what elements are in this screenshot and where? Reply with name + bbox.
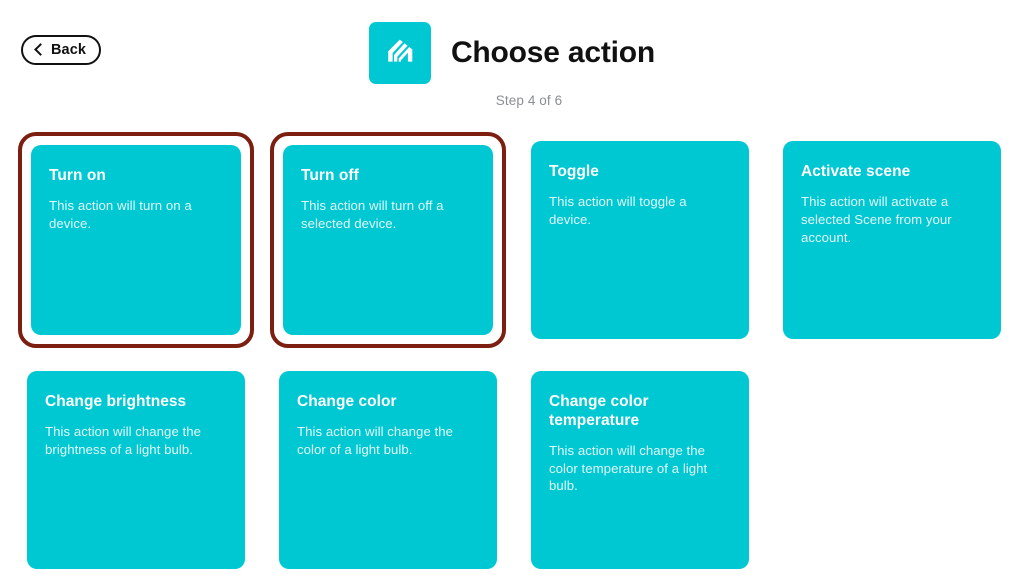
action-card-description: This action will change the color temper… xyxy=(549,442,731,495)
action-card[interactable]: ToggleThis action will toggle a device. xyxy=(531,141,749,339)
action-card-description: This action will activate a selected Sce… xyxy=(801,193,983,246)
card-slot: Change colorThis action will change the … xyxy=(270,362,506,578)
page-header: Back Choose action Step 4 of 6 xyxy=(0,0,1024,130)
card-slot: Activate sceneThis action will activate … xyxy=(774,132,1010,348)
card-slot: ToggleThis action will toggle a device. xyxy=(522,132,758,348)
action-card-title: Turn off xyxy=(301,167,475,186)
page-title: Choose action xyxy=(451,36,655,70)
action-card[interactable]: Change colorThis action will change the … xyxy=(279,371,497,569)
action-card-description: This action will change the color of a l… xyxy=(297,423,479,459)
action-card-title: Change brightness xyxy=(45,393,227,412)
card-slot: Change brightnessThis action will change… xyxy=(18,362,254,578)
card-slot: Change color temperatureThis action will… xyxy=(522,362,758,578)
action-card-grid: Turn onThis action will turn on a device… xyxy=(0,132,1024,578)
action-card-title: Change color temperature xyxy=(549,393,731,431)
step-indicator: Step 4 of 6 xyxy=(496,93,562,108)
action-card-title: Turn on xyxy=(49,167,223,186)
card-slot-highlighted: Turn offThis action will turn off a sele… xyxy=(270,132,506,348)
action-card[interactable]: Change color temperatureThis action will… xyxy=(531,371,749,569)
homey-house-logo-icon xyxy=(369,22,431,84)
action-card-description: This action will turn on a device. xyxy=(49,197,223,233)
title-block: Choose action Step 4 of 6 xyxy=(0,22,1024,108)
action-card-description: This action will toggle a device. xyxy=(549,193,731,229)
action-card-description: This action will change the brightness o… xyxy=(45,423,227,459)
action-card-title: Activate scene xyxy=(801,163,983,182)
card-slot-highlighted: Turn onThis action will turn on a device… xyxy=(18,132,254,348)
action-card-title: Change color xyxy=(297,393,479,412)
action-card-description: This action will turn off a selected dev… xyxy=(301,197,475,233)
action-card[interactable]: Turn offThis action will turn off a sele… xyxy=(283,145,493,335)
action-card[interactable]: Turn onThis action will turn on a device… xyxy=(31,145,241,335)
title-row: Choose action xyxy=(369,22,655,84)
action-card[interactable]: Activate sceneThis action will activate … xyxy=(783,141,1001,339)
action-card[interactable]: Change brightnessThis action will change… xyxy=(27,371,245,569)
action-card-title: Toggle xyxy=(549,163,731,182)
